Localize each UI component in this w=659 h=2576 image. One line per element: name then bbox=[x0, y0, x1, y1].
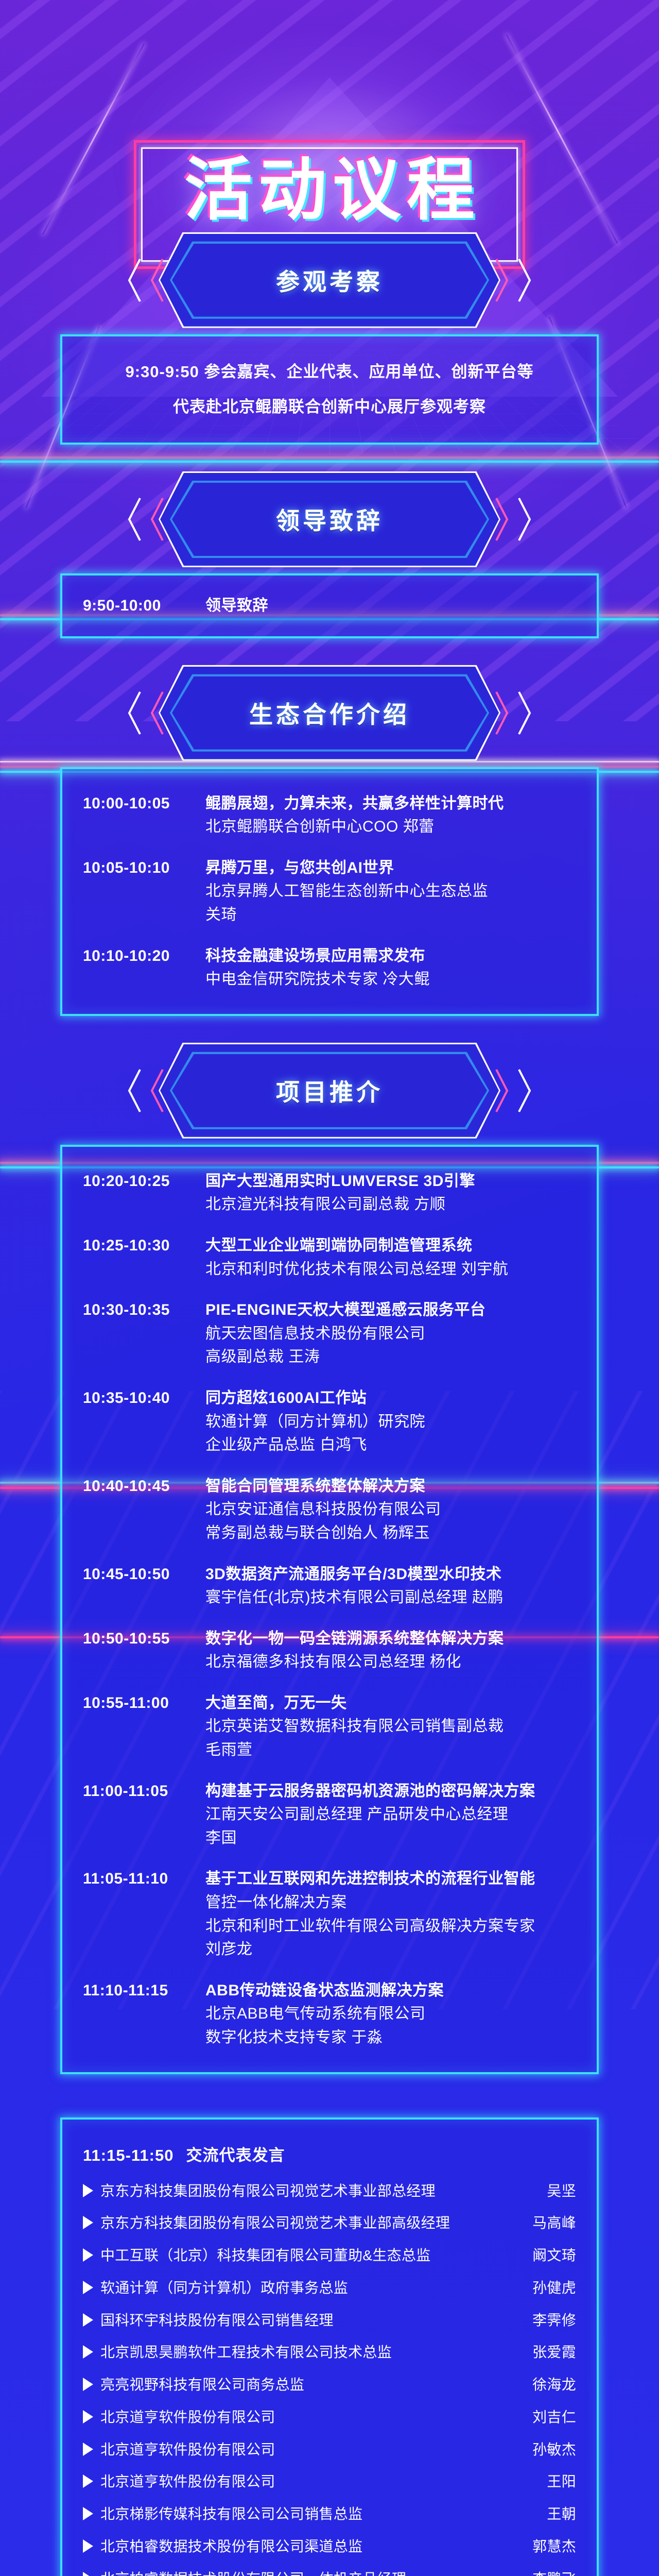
project-time-7: 10:55-11:00 bbox=[83, 1691, 192, 1715]
speaker-name: 马高峰 bbox=[504, 2212, 576, 2232]
project-row-10: 11:10-11:15 ABB传动链设备状态监测解决方案 北京ABB电气传动系统… bbox=[83, 1979, 576, 2049]
speech-row: 9:50-10:00 领导致辞 bbox=[83, 594, 576, 618]
project-sub-4-1: 常务副总裁与联合创始人 杨辉玉 bbox=[205, 1521, 576, 1545]
speaker-org: 软通计算（同方计算机）政府事务总监 bbox=[100, 2278, 497, 2298]
project-time-5: 10:45-10:50 bbox=[83, 1563, 192, 1586]
visit-line-1: 9:30-9:50 参会嘉宾、企业代表、应用单位、创新平台等 bbox=[83, 359, 576, 385]
triangle-bullet-icon bbox=[83, 2410, 93, 2424]
project-time-9: 11:05-11:10 bbox=[83, 1867, 192, 1890]
project-sub-5-0: 寰宇信任(北京)技术有限公司副总经理 赵鹏 bbox=[205, 1586, 576, 1609]
speaker-org: 北京梯影传媒科技有限公司公司销售总监 bbox=[100, 2504, 497, 2524]
eco-sub-2-0: 中电金信研究院技术专家 冷大鲲 bbox=[205, 968, 576, 991]
project-sub-7-0: 北京英诺艾智数据科技有限公司销售副总裁 bbox=[205, 1715, 576, 1738]
project-row-6: 10:50-10:55 数字化一物一码全链溯源系统整体解决方案 北京福德多科技有… bbox=[83, 1627, 576, 1674]
list-item: 软通计算（同方计算机）政府事务总监 孙健虎 bbox=[83, 2277, 576, 2298]
eco-row-1: 10:05-10:10 昇腾万里，与您共创AI世界 北京昇腾人工智能生态创新中心… bbox=[83, 856, 576, 927]
project-sub-4-0: 北京安证通信息科技股份有限公司 bbox=[205, 1498, 576, 1521]
project-sub-2-1: 高级副总裁 王涛 bbox=[205, 1345, 576, 1369]
speaker-org: 中工互联（北京）科技集团有限公司董助&生态总监 bbox=[100, 2245, 497, 2266]
closing-label: 交流代表发言 bbox=[186, 2146, 285, 2164]
eco-sub-1-0: 北京昇腾人工智能生态创新中心生态总监 bbox=[205, 879, 576, 903]
speaker-org: 亮亮视野科技有限公司商务总监 bbox=[100, 2375, 497, 2395]
speaker-org: 京东方科技集团股份有限公司视觉艺术事业部高级经理 bbox=[100, 2213, 497, 2233]
project-time-6: 10:50-10:55 bbox=[83, 1627, 192, 1650]
project-body-8: 构建基于云服务器密码机资源池的密码解决方案 江南天安公司副总经理 产品研发中心总… bbox=[205, 1780, 576, 1850]
chevron-left-icon-outer-4 bbox=[128, 1069, 141, 1113]
eco-sub-1-1: 关琦 bbox=[205, 903, 576, 927]
section-title-visit: 参观考察 bbox=[276, 263, 383, 297]
chevron-right-icon-outer-2 bbox=[518, 497, 531, 541]
speaker-name: 王阳 bbox=[504, 2470, 576, 2491]
project-title-8: 构建基于云服务器密码机资源池的密码解决方案 bbox=[205, 1780, 576, 1803]
speaker-name: 王朝 bbox=[504, 2503, 576, 2523]
speaker-org: 国科环宇科技股份有限公司销售经理 bbox=[100, 2310, 497, 2331]
speaker-org: 北京道亨软件股份有限公司 bbox=[100, 2439, 497, 2460]
project-title-10: ABB传动链设备状态监测解决方案 bbox=[205, 1979, 576, 2003]
project-title-0: 国产大型通用实时LUMVERSE 3D引擎 bbox=[205, 1170, 576, 1193]
eco-time-2: 10:10-10:20 bbox=[83, 944, 192, 968]
project-body-4: 智能合同管理系统整体解决方案 北京安证通信息科技股份有限公司 常务副总裁与联合创… bbox=[205, 1475, 576, 1545]
project-sub-6-0: 北京福德多科技有限公司总经理 杨化 bbox=[205, 1650, 576, 1674]
list-item: 国科环宇科技股份有限公司销售经理 李霁修 bbox=[83, 2309, 576, 2331]
closing-header: 11:15-11:50交流代表发言 bbox=[83, 2142, 576, 2165]
visit-line-1-row: 9:30-9:50 参会嘉宾、企业代表、应用单位、创新平台等 bbox=[83, 359, 576, 385]
list-item: 北京柏睿数据技术股份有限公司渠道总监 郭慧杰 bbox=[83, 2535, 576, 2557]
speaker-name: 孙健虎 bbox=[504, 2277, 576, 2297]
list-item: 北京柏睿数据技术股份有限公司一体机产品经理 柰鹏飞 bbox=[83, 2568, 576, 2576]
list-item: 北京道亨软件股份有限公司 刘吉仁 bbox=[83, 2406, 576, 2428]
chevron-right-icon-outer-1 bbox=[518, 258, 531, 302]
closing-time: 11:15-11:50 bbox=[83, 2146, 174, 2164]
project-row-5: 10:45-10:50 3D数据资产流通服务平台/3D模型水印技术 寰宇信任(北… bbox=[83, 1563, 576, 1609]
list-item: 北京道亨软件股份有限公司 孙敏杰 bbox=[83, 2438, 576, 2460]
project-sub-0-0: 北京渲光科技有限公司副总裁 方顺 bbox=[205, 1193, 576, 1216]
triangle-bullet-icon bbox=[83, 2216, 93, 2229]
speaker-name: 李霁修 bbox=[504, 2309, 576, 2330]
project-time-2: 10:30-10:35 bbox=[83, 1298, 192, 1321]
section-header-projects: 项目推介 bbox=[0, 1037, 659, 1145]
project-row-2: 10:30-10:35 PIE-ENGINE天权大模型遥感云服务平台 航天宏图信… bbox=[83, 1298, 576, 1369]
project-sub-7-1: 毛雨萱 bbox=[205, 1738, 576, 1762]
section-badge-projects: 项目推介 bbox=[170, 1052, 489, 1129]
project-title-5: 3D数据资产流通服务平台/3D模型水印技术 bbox=[205, 1563, 576, 1586]
project-time-0: 10:20-10:25 bbox=[83, 1170, 192, 1193]
visit-line-2-row: 代表赴北京鲲鹏联合创新中心展厅参观考察 bbox=[83, 394, 576, 420]
project-sub-2-0: 航天宏图信息技术股份有限公司 bbox=[205, 1322, 576, 1346]
triangle-bullet-icon bbox=[83, 2539, 93, 2553]
section-header-speech: 领导致辞 bbox=[0, 465, 659, 573]
eco-title-1: 昇腾万里，与您共创AI世界 bbox=[205, 856, 576, 880]
project-body-5: 3D数据资产流通服务平台/3D模型水印技术 寰宇信任(北京)技术有限公司副总经理… bbox=[205, 1563, 576, 1609]
list-item: 亮亮视野科技有限公司商务总监 徐海龙 bbox=[83, 2374, 576, 2395]
speaker-org: 京东方科技集团股份有限公司视觉艺术事业部总经理 bbox=[100, 2181, 497, 2201]
section-badge-visit: 参观考察 bbox=[170, 242, 489, 319]
project-body-2: PIE-ENGINE天权大模型遥感云服务平台 航天宏图信息技术股份有限公司 高级… bbox=[205, 1298, 576, 1369]
chevron-right-icon-outer-4 bbox=[518, 1069, 531, 1113]
triangle-bullet-icon bbox=[83, 2313, 93, 2327]
section-header-eco: 生态合作介绍 bbox=[0, 659, 659, 767]
triangle-bullet-icon bbox=[83, 2281, 93, 2294]
project-row-3: 10:35-10:40 同方超炫1600AI工作站 软通计算（同方计算机）研究院… bbox=[83, 1386, 576, 1457]
eco-title-0: 鲲鹏展翅，力算未来，共赢多样性计算时代 bbox=[205, 792, 576, 816]
speech-label: 领导致辞 bbox=[205, 594, 576, 618]
speaker-org: 北京道亨软件股份有限公司 bbox=[100, 2471, 497, 2492]
project-sub-8-1: 李国 bbox=[205, 1826, 576, 1850]
speaker-name: 吴坚 bbox=[504, 2180, 576, 2200]
speaker-name: 阚文琦 bbox=[504, 2244, 576, 2265]
list-item: 北京道亨软件股份有限公司 王阳 bbox=[83, 2470, 576, 2492]
eco-body-2: 科技金融建设场景应用需求发布 中电金信研究院技术专家 冷大鲲 bbox=[205, 944, 576, 991]
eco-sub-0-0: 北京鲲鹏联合创新中心COO 郑蕾 bbox=[205, 815, 576, 839]
project-body-9: 基于工业互联网和先进控制技术的流程行业智能 管控一体化解决方案 北京和利时工业软… bbox=[205, 1867, 576, 1961]
speaker-org: 北京柏睿数据技术股份有限公司渠道总监 bbox=[100, 2536, 497, 2557]
project-title-1: 大型工业企业端到端协同制造管理系统 bbox=[205, 1234, 576, 1258]
eco-title-2: 科技金融建设场景应用需求发布 bbox=[205, 944, 576, 968]
project-row-0: 10:20-10:25 国产大型通用实时LUMVERSE 3D引擎 北京渲光科技… bbox=[83, 1170, 576, 1216]
section-badge-eco: 生态合作介绍 bbox=[170, 674, 489, 752]
list-item: 京东方科技集团股份有限公司视觉艺术事业部高级经理 马高峰 bbox=[83, 2212, 576, 2233]
eco-row-0: 10:00-10:05 鲲鹏展翅，力算未来，共赢多样性计算时代 北京鲲鹏联合创新… bbox=[83, 792, 576, 839]
eco-body-0: 鲲鹏展翅，力算未来，共赢多样性计算时代 北京鲲鹏联合创新中心COO 郑蕾 bbox=[205, 792, 576, 839]
project-title-9: 基于工业互联网和先进控制技术的流程行业智能 bbox=[205, 1867, 576, 1891]
panel-closing: 11:15-11:50交流代表发言 京东方科技集团股份有限公司视觉艺术事业部总经… bbox=[60, 2117, 599, 2576]
project-sub-9-2: 刘彦龙 bbox=[205, 1938, 576, 1961]
project-sub-1-0: 北京和利时优化技术有限公司总经理 刘宇航 bbox=[205, 1258, 576, 1281]
speaker-name: 刘吉仁 bbox=[504, 2406, 576, 2427]
triangle-bullet-icon bbox=[83, 2345, 93, 2359]
project-sub-3-1: 企业级产品总监 白鸿飞 bbox=[205, 1433, 576, 1457]
list-item: 北京梯影传媒科技有限公司公司销售总监 王朝 bbox=[83, 2503, 576, 2524]
project-time-8: 11:00-11:05 bbox=[83, 1780, 192, 1803]
eco-body-1: 昇腾万里，与您共创AI世界 北京昇腾人工智能生态创新中心生态总监 关琦 bbox=[205, 856, 576, 927]
project-title-7: 大道至简，万无一失 bbox=[205, 1691, 576, 1715]
speaker-name: 张爱霞 bbox=[504, 2341, 576, 2362]
speaker-list: 京东方科技集团股份有限公司视觉艺术事业部总经理 吴坚 京东方科技集团股份有限公司… bbox=[83, 2180, 576, 2576]
section-title-eco: 生态合作介绍 bbox=[249, 696, 410, 730]
section-badge-speech: 领导致辞 bbox=[170, 481, 489, 558]
visit-line-2: 代表赴北京鲲鹏联合创新中心展厅参观考察 bbox=[83, 394, 576, 420]
project-body-10: ABB传动链设备状态监测解决方案 北京ABB电气传动系统有限公司 数字化技术支持… bbox=[205, 1979, 576, 2049]
section-header-visit: 参观考察 bbox=[0, 226, 659, 334]
chevron-left-icon-outer-3 bbox=[128, 691, 141, 735]
poster-title-block: 活动议程 bbox=[0, 0, 659, 226]
speaker-name: 孙敏杰 bbox=[504, 2438, 576, 2459]
speaker-name: 郭慧杰 bbox=[504, 2535, 576, 2556]
event-agenda-poster: 活动议程 参观考察 9:30- bbox=[0, 0, 659, 2576]
page-title: 活动议程 bbox=[168, 155, 491, 226]
section-title-speech: 领导致辞 bbox=[276, 502, 383, 536]
project-time-4: 10:40-10:45 bbox=[83, 1475, 192, 1498]
project-title-6: 数字化一物一码全链溯源系统整体解决方案 bbox=[205, 1627, 576, 1651]
triangle-bullet-icon bbox=[83, 2184, 93, 2197]
project-sub-3-0: 软通计算（同方计算机）研究院 bbox=[205, 1410, 576, 1434]
agenda-content: 参观考察 9:30-9:50 参会嘉宾、企业代表、应用单位、创新平台等 代表赴北… bbox=[0, 226, 659, 2576]
project-body-7: 大道至简，万无一失 北京英诺艾智数据科技有限公司销售副总裁 毛雨萱 bbox=[205, 1691, 576, 1762]
triangle-bullet-icon bbox=[83, 2507, 93, 2520]
project-time-3: 10:35-10:40 bbox=[83, 1386, 192, 1410]
project-title-4: 智能合同管理系统整体解决方案 bbox=[205, 1475, 576, 1498]
eco-row-2: 10:10-10:20 科技金融建设场景应用需求发布 中电金信研究院技术专家 冷… bbox=[83, 944, 576, 991]
speaker-org: 北京柏睿数据技术股份有限公司一体机产品经理 bbox=[100, 2569, 497, 2576]
panel-speech: 9:50-10:00 领导致辞 bbox=[60, 573, 599, 638]
list-item: 京东方科技集团股份有限公司视觉艺术事业部总经理 吴坚 bbox=[83, 2180, 576, 2201]
panel-visit: 9:30-9:50 参会嘉宾、企业代表、应用单位、创新平台等 代表赴北京鲲鹏联合… bbox=[60, 334, 599, 445]
project-body-3: 同方超炫1600AI工作站 软通计算（同方计算机）研究院 企业级产品总监 白鸿飞 bbox=[205, 1386, 576, 1457]
speaker-name: 柰鹏飞 bbox=[504, 2568, 576, 2576]
project-row-1: 10:25-10:30 大型工业企业端到端协同制造管理系统 北京和利时优化技术有… bbox=[83, 1234, 576, 1281]
triangle-bullet-icon bbox=[83, 2443, 93, 2456]
eco-time-1: 10:05-10:10 bbox=[83, 856, 192, 879]
triangle-bullet-icon bbox=[83, 2378, 93, 2391]
project-time-1: 10:25-10:30 bbox=[83, 1234, 192, 1257]
project-body-1: 大型工业企业端到端协同制造管理系统 北京和利时优化技术有限公司总经理 刘宇航 bbox=[205, 1234, 576, 1281]
project-sub-9-1: 北京和利时工业软件有限公司高级解决方案专家 bbox=[205, 1914, 576, 1938]
project-sub-8-0: 江南天安公司副总经理 产品研发中心总经理 bbox=[205, 1803, 576, 1826]
project-title-3: 同方超炫1600AI工作站 bbox=[205, 1386, 576, 1410]
project-sub-9-0: 管控一体化解决方案 bbox=[205, 1891, 576, 1914]
speech-time: 9:50-10:00 bbox=[83, 594, 192, 617]
panel-projects: 10:20-10:25 国产大型通用实时LUMVERSE 3D引擎 北京渲光科技… bbox=[60, 1145, 599, 2074]
project-row-7: 10:55-11:00 大道至简，万无一失 北京英诺艾智数据科技有限公司销售副总… bbox=[83, 1691, 576, 1762]
project-body-0: 国产大型通用实时LUMVERSE 3D引擎 北京渲光科技有限公司副总裁 方顺 bbox=[205, 1170, 576, 1216]
project-body-6: 数字化一物一码全链溯源系统整体解决方案 北京福德多科技有限公司总经理 杨化 bbox=[205, 1627, 576, 1674]
project-row-4: 10:40-10:45 智能合同管理系统整体解决方案 北京安证通信息科技股份有限… bbox=[83, 1475, 576, 1545]
project-row-8: 11:00-11:05 构建基于云服务器密码机资源池的密码解决方案 江南天安公司… bbox=[83, 1780, 576, 1850]
panel-eco: 10:00-10:05 鲲鹏展翅，力算未来，共赢多样性计算时代 北京鲲鹏联合创新… bbox=[60, 767, 599, 1016]
project-sub-10-0: 北京ABB电气传动系统有限公司 bbox=[205, 2002, 576, 2026]
speaker-name: 徐海龙 bbox=[504, 2374, 576, 2394]
speaker-org: 北京道亨软件股份有限公司 bbox=[100, 2407, 497, 2428]
list-item: 北京凯思昊鹏软件工程技术有限公司技术总监 张爱霞 bbox=[83, 2341, 576, 2363]
project-row-9: 11:05-11:10 基于工业互联网和先进控制技术的流程行业智能 管控一体化解… bbox=[83, 1867, 576, 1961]
chevron-left-icon-outer-2 bbox=[128, 497, 141, 541]
triangle-bullet-icon bbox=[83, 2248, 93, 2262]
list-item: 中工互联（北京）科技集团有限公司董助&生态总监 阚文琦 bbox=[83, 2244, 576, 2266]
speaker-org: 北京凯思昊鹏软件工程技术有限公司技术总监 bbox=[100, 2342, 497, 2363]
project-title-2: PIE-ENGINE天权大模型遥感云服务平台 bbox=[205, 1298, 576, 1322]
project-sub-10-1: 数字化技术支持专家 于淼 bbox=[205, 2026, 576, 2049]
eco-time-0: 10:00-10:05 bbox=[83, 792, 192, 815]
section-title-projects: 项目推介 bbox=[276, 1074, 383, 1108]
chevron-right-icon-outer-3 bbox=[518, 691, 531, 735]
triangle-bullet-icon bbox=[83, 2572, 93, 2576]
project-time-10: 11:10-11:15 bbox=[83, 1979, 192, 2002]
triangle-bullet-icon bbox=[83, 2475, 93, 2488]
chevron-left-icon-outer-1 bbox=[128, 258, 141, 302]
speech-body: 领导致辞 bbox=[205, 594, 576, 618]
